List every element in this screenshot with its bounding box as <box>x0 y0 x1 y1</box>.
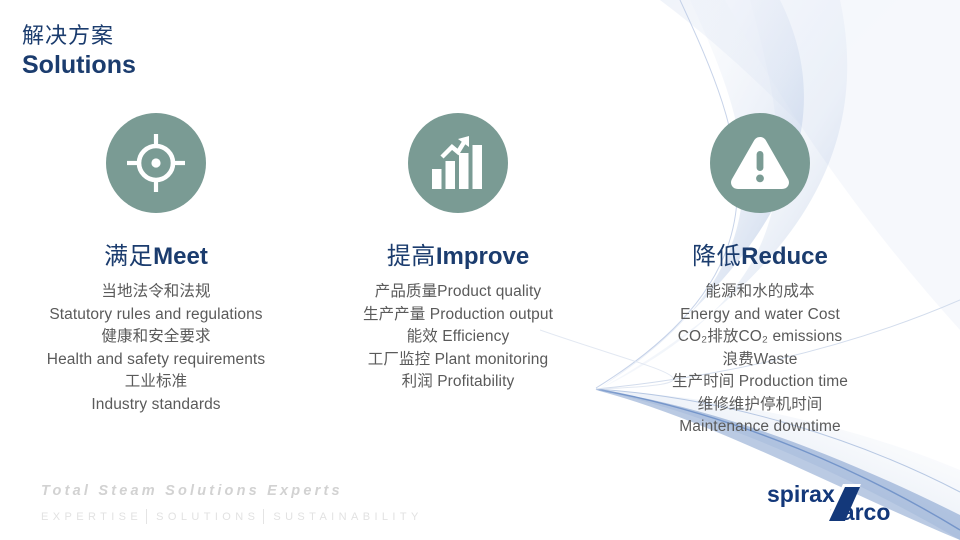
page-title-chinese: 解决方案 <box>22 22 136 50</box>
column-heading-cn: 降低 <box>692 243 741 270</box>
list-item: 当地法令和法规 <box>47 281 265 303</box>
pillar-divider <box>263 509 264 524</box>
list-item: 利润 Profitability <box>363 371 553 393</box>
list-item: Industry standards <box>47 394 265 416</box>
column-heading-improve: 提高Improve <box>387 244 529 270</box>
list-item: 能源和水的成本 <box>672 281 848 303</box>
list-item: 能效 Efficiency <box>363 326 553 348</box>
footer-tagline: Total Steam Solutions Experts <box>41 483 343 499</box>
presentation-slide: 解决方案 Solutions 满足Meet 当地法令和法规 St <box>0 0 960 540</box>
column-heading-en: Meet <box>153 243 208 270</box>
list-item: Health and safety requirements <box>47 349 265 371</box>
list-item: 产品质量Product quality <box>363 281 553 303</box>
column-heading-reduce: 降低Reduce <box>692 244 828 270</box>
column-lines-meet: 当地法令和法规 Statutory rules and regulations … <box>47 281 265 416</box>
footer-pillar-expertise: EXPERTISE <box>41 511 142 523</box>
footer-pillar-sustainability: SUSTAINABILITY <box>273 511 422 523</box>
column-heading-en: Reduce <box>741 243 828 270</box>
list-item: CO₂排放CO₂ emissions <box>672 326 848 348</box>
column-lines-improve: 产品质量Product quality 生产产量 Production outp… <box>363 281 553 393</box>
page-title-english: Solutions <box>22 50 136 81</box>
list-item: 维修维护停机时间 <box>672 394 848 416</box>
pillar-divider <box>146 509 147 524</box>
list-item: 健康和安全要求 <box>47 326 265 348</box>
list-item: 工厂监控 Plant monitoring <box>363 349 553 371</box>
column-heading-en: Improve <box>436 243 529 270</box>
list-item: Energy and water Cost <box>672 304 848 326</box>
warning-triangle-icon <box>710 113 810 213</box>
solution-column-improve: 提高Improve 产品质量Product quality 生产产量 Produ… <box>307 113 609 439</box>
list-item: 工业标准 <box>47 371 265 393</box>
spirax-sarco-logo: spirax sarco <box>759 478 944 526</box>
logo-word-spirax: spirax <box>767 481 835 507</box>
list-item: Statutory rules and regulations <box>47 304 265 326</box>
list-item: 浪费Waste <box>672 349 848 371</box>
list-item: 生产时间 Production time <box>672 371 848 393</box>
list-item: Maintenance downtime <box>672 416 848 438</box>
slide-title-block: 解决方案 Solutions <box>22 22 136 81</box>
column-lines-reduce: 能源和水的成本 Energy and water Cost CO₂排放CO₂ e… <box>672 281 848 438</box>
footer-pillars: EXPERTISE SOLUTIONS SUSTAINABILITY <box>41 509 423 524</box>
footer-pillar-solutions: SOLUTIONS <box>156 511 259 523</box>
solution-column-meet: 满足Meet 当地法令和法规 Statutory rules and regul… <box>5 113 307 439</box>
column-heading-cn: 满足 <box>104 243 153 270</box>
bar-chart-growth-icon <box>408 113 508 213</box>
solutions-columns: 满足Meet 当地法令和法规 Statutory rules and regul… <box>0 113 960 439</box>
crosshair-target-icon <box>106 113 206 213</box>
list-item: 生产产量 Production output <box>363 304 553 326</box>
column-heading-cn: 提高 <box>387 243 436 270</box>
solution-column-reduce: 降低Reduce 能源和水的成本 Energy and water Cost C… <box>609 113 911 439</box>
column-heading-meet: 满足Meet <box>104 244 208 270</box>
